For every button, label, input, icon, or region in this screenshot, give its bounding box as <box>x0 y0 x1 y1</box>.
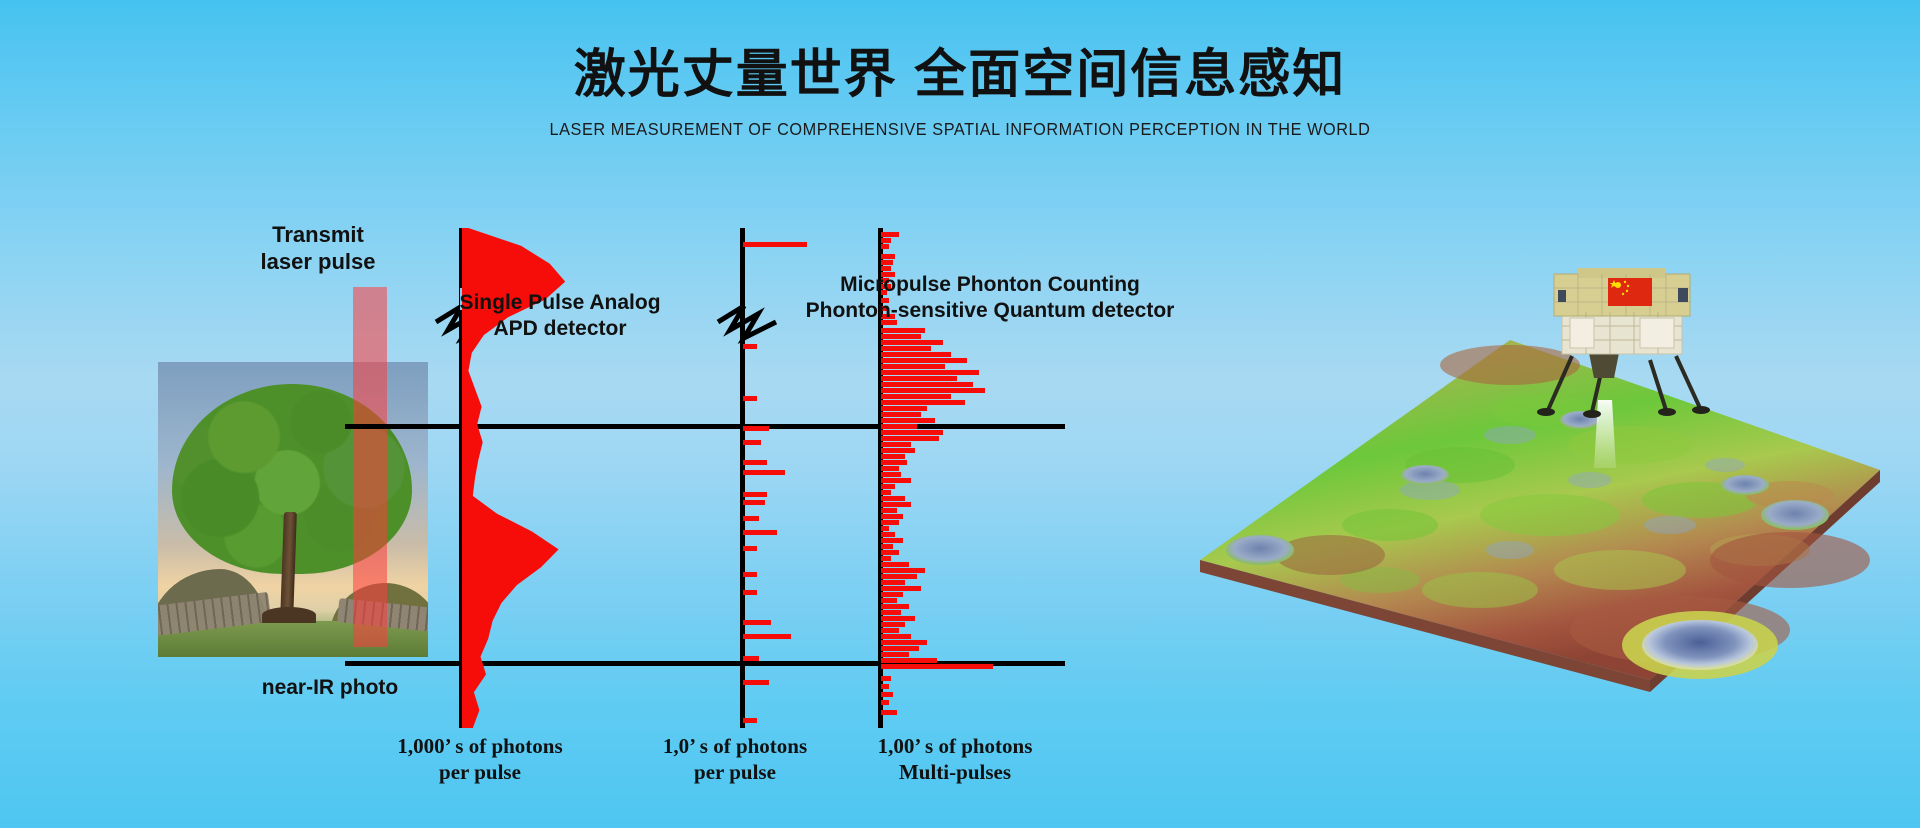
photon-histogram-bar <box>881 334 921 339</box>
photon-histogram-bar <box>881 370 979 375</box>
photon-histogram-bar <box>881 266 891 271</box>
photon-return-bar <box>743 396 757 401</box>
transmit-laser-pulse-label: Transmitlaser pulse <box>228 222 408 276</box>
crater-medium-right <box>1761 500 1829 530</box>
photon-histogram-bar <box>881 388 985 393</box>
photon-histogram-bar <box>881 550 899 555</box>
photon-histogram-bar <box>881 556 891 561</box>
photon-histogram-bar <box>881 508 897 513</box>
photon-histogram-bar <box>881 592 903 597</box>
photon-histogram-bar <box>881 430 943 435</box>
photon-histogram-bar <box>881 364 945 369</box>
photon-histogram-bar <box>881 358 967 363</box>
near-ir-photo <box>158 362 428 657</box>
photon-histogram-bar <box>881 412 921 417</box>
photon-histogram-bar <box>881 424 917 429</box>
photon-histogram-bar <box>881 634 911 639</box>
photon-return-bar <box>743 634 791 639</box>
photon-histogram-bar <box>881 260 893 265</box>
photon-histogram-bar <box>881 622 905 627</box>
photon-histogram-bar <box>881 610 901 615</box>
photon-histogram-bar <box>881 640 927 645</box>
terrain-surface <box>1200 340 1880 692</box>
photon-histogram-bar <box>881 532 895 537</box>
photon-histogram-bar <box>881 562 909 567</box>
photon-histogram-bar <box>881 586 921 591</box>
photon-return-bar <box>743 620 771 625</box>
photon-return-bar <box>743 440 761 445</box>
photon-histogram-bar <box>881 502 911 507</box>
photon-histogram-bar <box>881 232 899 237</box>
lidar-waveform-diagram: Transmitlaser pulse Single Pulse AnalogA… <box>0 0 1180 828</box>
photon-histogram-bar <box>881 466 899 471</box>
single-pulse-analog-label: Single Pulse AnalogAPD detector <box>420 290 700 341</box>
photon-histogram-bar <box>881 406 927 411</box>
crater-small-right <box>1721 475 1769 495</box>
lidar-terrain-scene <box>1180 260 1920 720</box>
near-ir-photo-label: near-IR photo <box>200 675 460 701</box>
photon-histogram-bar <box>881 514 903 519</box>
photon-return-bar <box>743 656 759 661</box>
photon-return-bar <box>743 718 757 723</box>
crater-small-left <box>1401 465 1449 485</box>
micropulse-photon-counting-label: Micropulse Phonton CountingPhonton-sensi… <box>780 272 1200 323</box>
photon-histogram-bar <box>881 442 911 447</box>
footer-caption-single-pulse: 1,000’ s of photonsper pulse <box>340 733 620 786</box>
photon-histogram-bar <box>881 382 973 387</box>
photon-return-bar <box>743 516 759 521</box>
photon-histogram-bar <box>881 526 889 531</box>
photon-histogram-bar <box>881 628 899 633</box>
photon-histogram-bar <box>881 658 937 663</box>
photon-return-bar <box>743 470 785 475</box>
photon-histogram-bar <box>881 574 917 579</box>
photon-histogram-bar <box>881 544 893 549</box>
photon-histogram-bar <box>881 400 965 405</box>
photon-return-bar <box>743 492 767 497</box>
poster-canvas: 激光丈量世界 全面空间信息感知 LASER MEASUREMENT OF COM… <box>0 0 1920 828</box>
photon-return-bar <box>743 460 767 465</box>
photon-return-bar <box>743 680 769 685</box>
photon-histogram-bar <box>881 454 905 459</box>
crater-large <box>1642 620 1758 670</box>
photon-histogram-bar <box>881 580 905 585</box>
photon-return-bar <box>743 242 807 247</box>
photon-histogram-bar <box>881 376 957 381</box>
photon-histogram-bar <box>881 568 925 573</box>
photon-histogram-bar <box>881 352 951 357</box>
photon-histogram-bar <box>881 436 939 441</box>
photon-histogram-bar <box>881 692 893 697</box>
photon-histogram-bar <box>881 244 889 249</box>
photo-tree-root <box>262 607 316 623</box>
photon-histogram-bar <box>881 472 901 477</box>
photon-return-bar <box>743 572 757 577</box>
photon-histogram-bar <box>881 520 899 525</box>
photon-histogram-bar <box>881 490 891 495</box>
photon-histogram-bar <box>881 394 951 399</box>
photon-histogram-bar <box>881 418 935 423</box>
photon-histogram-bar <box>881 664 993 669</box>
photon-histogram-bar <box>881 646 919 651</box>
photon-histogram-bar <box>881 496 905 501</box>
crater-edge-left <box>1226 535 1294 565</box>
terrain-svg <box>1180 260 1920 720</box>
photon-histogram-bar <box>881 460 907 465</box>
photon-return-bar <box>743 500 765 505</box>
photon-histogram-bar <box>881 484 895 489</box>
photon-histogram-bar <box>881 616 915 621</box>
photon-histogram-bar <box>881 478 911 483</box>
photon-histogram-bar <box>881 340 943 345</box>
photon-return-bar <box>743 530 777 535</box>
footer-caption-sparse-photon: 1,0’ s of photonsper pulse <box>610 733 860 786</box>
photon-histogram-bar <box>881 604 909 609</box>
photon-histogram-bar <box>881 710 897 715</box>
photon-histogram-bar <box>881 684 889 689</box>
photon-return-bar <box>743 590 757 595</box>
laser-beam-overlay <box>353 287 387 647</box>
photon-histogram-bar <box>881 598 897 603</box>
photon-return-bar <box>743 344 757 349</box>
footer-caption-micropulse: 1,00’ s of photonsMulti-pulses <box>830 733 1080 786</box>
photon-return-bar <box>743 426 769 431</box>
photon-histogram-bar <box>881 676 891 681</box>
photon-histogram-bar <box>881 346 931 351</box>
chinese-flag <box>1608 278 1652 306</box>
photon-histogram-bar <box>881 238 891 243</box>
photon-histogram-bar <box>881 254 895 259</box>
photon-histogram-bar <box>881 700 889 705</box>
photon-histogram-bar <box>881 448 915 453</box>
photon-histogram-bar <box>881 328 925 333</box>
photon-histogram-bar <box>881 538 903 543</box>
photon-histogram-bar <box>881 652 909 657</box>
photon-return-bar <box>743 546 757 551</box>
